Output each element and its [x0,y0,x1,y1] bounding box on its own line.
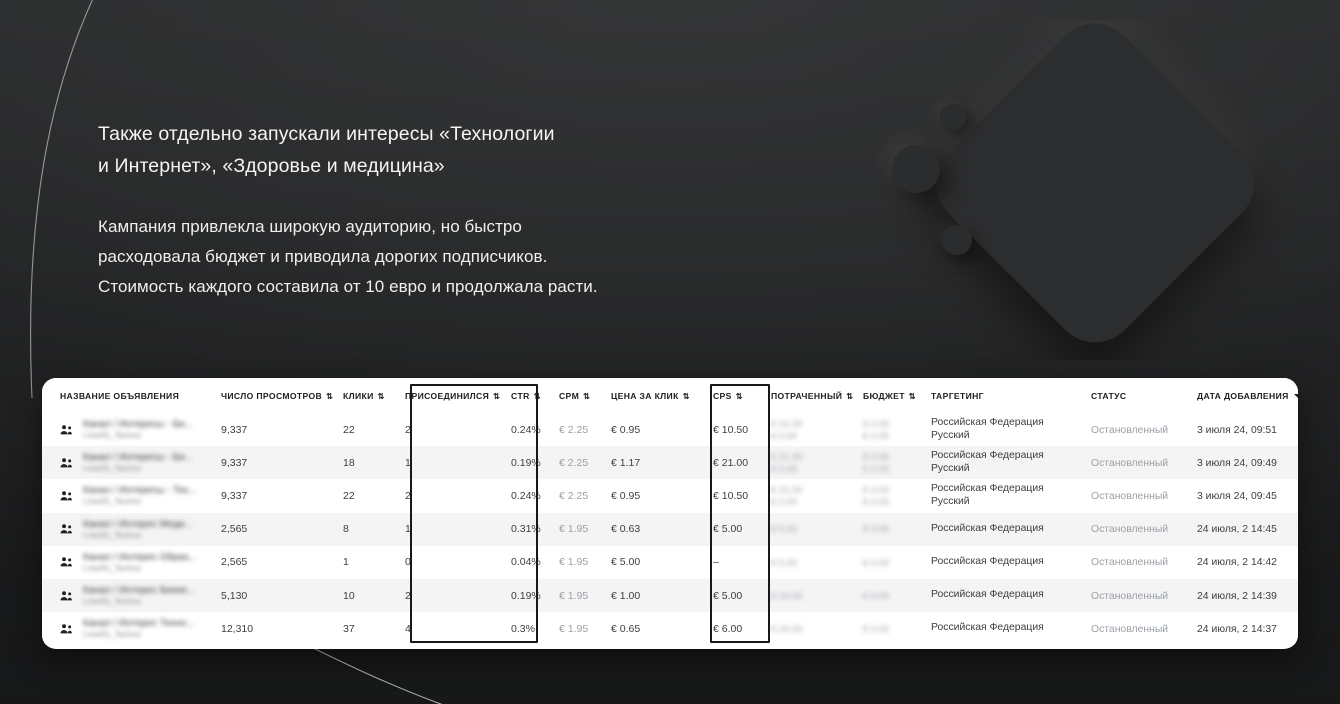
sort-toggle-icon[interactable]: ⇅ [583,393,590,401]
status-text: Остановленный [1091,425,1168,436]
status-badge: Остановленный [1082,513,1188,546]
cpm-value: € 2.25 [559,457,588,469]
cell-joined: 1 [392,446,502,479]
cell-cpc: € 1.17 [602,446,700,479]
budget-value: € 0.00 [863,623,922,635]
status-badge: Остановленный [1082,546,1188,579]
cell-joined: 2 [392,479,502,512]
column-header-budget-label: БЮДЖЕТ [863,391,905,401]
budget-value: € 0.00€ 0.00 [863,418,922,441]
cell-spent: € 21.00€ 0.00 [758,413,854,446]
cpc-value: € 5.00 [611,556,640,568]
views-value: 5,130 [221,590,247,602]
clicks-value: 22 [343,424,355,436]
sort-toggle-icon[interactable]: ⇅ [909,393,916,401]
joined-value: 0 [405,556,411,568]
cell-clicks: 37 [334,612,392,645]
cpc-value: € 1.00 [611,590,640,602]
joined-value: 2 [405,490,411,502]
date-added-value: 24 июля, 2 14:45 [1197,524,1277,535]
spent-value: € 5.00 [771,523,854,535]
cell-ad-name: Канал / Интерес Образ...t.me/IG_Techno [42,546,212,579]
targeting-value: Российская Федерация [931,556,1082,569]
column-header-clicks-label: КЛИКИ [343,391,374,401]
table-row[interactable]: Канал / Интересы - Тех...t.me/IG_Techno9… [42,479,1298,512]
column-header-ad-name-label: НАЗВАНИЕ ОБЪЯВЛЕНИЯ [60,391,179,401]
cell-clicks: 10 [334,579,392,612]
targeting-value: Российская ФедерацияРусский [931,417,1082,442]
column-header-ctr[interactable]: CTR⇅ [502,378,550,413]
cell-budget: € 0.00 [854,579,922,612]
slide-lead-paragraph: Также отдельно запускали интересы «Техно… [98,118,818,182]
cell-ad-name: Канал / Интерес Бизне...t.me/IG_Techno [42,579,212,612]
cell-targeting: Российская ФедерацияРусский [922,413,1082,446]
cell-cpm: € 1.95 [550,612,602,645]
column-header-status-label: СТАТУС [1091,391,1126,401]
cps-value: € 6.00 [713,623,742,635]
chevron-down-icon[interactable] [1294,394,1298,398]
ctr-value: 0.19% [511,457,541,469]
ad-channel-text: t.me/IG_Techno [83,630,194,639]
cell-ad-name: Канал / Интересы - Би...t.me/IG_Techno [42,446,212,479]
cpm-value: € 1.95 [559,556,588,568]
status-text: Остановленный [1091,591,1168,602]
column-header-budget[interactable]: БЮДЖЕТ⇅ [854,378,922,413]
cell-clicks: 22 [334,413,392,446]
column-header-cps-label: CPS [713,391,732,401]
sort-toggle-icon[interactable]: ⇅ [326,393,333,401]
ctr-value: 0.19% [511,590,541,602]
cell-cpc: € 1.00 [602,579,700,612]
cell-cpm: € 2.25 [550,479,602,512]
ads-table: НАЗВАНИЕ ОБЪЯВЛЕНИЯ ЧИСЛО ПРОСМОТРОВ⇅ КЛ… [42,378,1298,645]
joined-value: 1 [405,523,411,535]
lead-line-2: и Интернет», «Здоровье и медицина» [98,150,818,182]
cell-clicks: 1 [334,546,392,579]
cell-budget: € 0.00 [854,546,922,579]
cell-ctr: 0.31% [502,513,550,546]
spent-value: € 24.00 [771,623,854,635]
ad-name-text: Канал / Интерес Бизне... [83,585,195,596]
status-badge: Остановленный [1082,579,1188,612]
table-row[interactable]: Канал / Интересы - Би...t.me/IG_Techno9,… [42,413,1298,446]
column-header-ctr-label: CTR [511,391,530,401]
views-value: 2,565 [221,556,247,568]
table-row[interactable]: Канал / Интерес Техно...t.me/IG_Techno12… [42,612,1298,645]
status-text: Остановленный [1091,491,1168,502]
column-header-clicks[interactable]: КЛИКИ⇅ [334,378,392,413]
column-header-status[interactable]: СТАТУС [1082,378,1188,413]
status-badge: Остановленный [1082,612,1188,645]
column-header-joined-label: ПРИСОЕДИНИЛСЯ [405,391,489,401]
column-header-targeting[interactable]: ТАРГЕТИНГ [922,378,1082,413]
date-added-value: 3 июля 24, 09:49 [1197,458,1277,469]
status-text: Остановленный [1091,624,1168,635]
cell-ctr: 0.04% [502,546,550,579]
cell-cpc: € 0.65 [602,612,700,645]
ad-name-text: Канал / Интересы - Тех... [83,485,196,496]
cell-views: 9,337 [212,479,334,512]
people-icon [60,556,74,568]
joined-value: 2 [405,424,411,436]
status-badge: Остановленный [1082,413,1188,446]
body-line-3: Стоимость каждого составила от 10 евро и… [98,272,818,302]
cell-spent: € 5.00 [758,513,854,546]
status-badge: Остановленный [1082,446,1188,479]
sort-toggle-icon[interactable]: ⇅ [534,393,541,401]
cell-date-added: 3 июля 24, 09:51 [1188,413,1298,446]
cell-targeting: Российская ФедерацияРусский [922,446,1082,479]
ad-channel-text: t.me/IG_Techno [83,564,196,573]
cell-targeting: Российская Федерация [922,513,1082,546]
date-added-value: 24 июля, 2 14:37 [1197,624,1277,635]
cell-cps: € 5.00 [700,513,758,546]
ad-channel-text: t.me/IG_Techno [83,597,195,606]
cps-value: – [713,556,719,568]
joined-value: 2 [405,590,411,602]
cell-cps: € 6.00 [700,612,758,645]
cell-spent: € 10.00 [758,579,854,612]
cell-joined: 2 [392,579,502,612]
cpc-value: € 1.17 [611,457,640,469]
column-header-views-label: ЧИСЛО ПРОСМОТРОВ [221,391,322,401]
spent-value: € 21.00€ 0.00 [771,484,854,507]
cps-value: € 21.00 [713,457,748,469]
cell-joined: 1 [392,513,502,546]
cpm-value: € 1.95 [559,590,588,602]
status-text: Остановленный [1091,524,1168,535]
spent-value: € 5.00 [771,557,854,569]
views-value: 2,565 [221,523,247,535]
spent-value: € 21.00€ 0.00 [771,418,854,441]
cell-cps: € 10.50 [700,413,758,446]
sort-toggle-icon[interactable]: ⇅ [378,393,385,401]
table-row[interactable]: Канал / Интерес Образ...t.me/IG_Techno2,… [42,546,1298,579]
column-header-spent-label: ПОТРАЧЕННЫЙ [771,391,842,401]
cell-cpc: € 5.00 [602,546,700,579]
cell-views: 2,565 [212,513,334,546]
ad-name-text: Канал / Интерес Меди... [83,519,193,530]
cell-cpc: € 0.95 [602,479,700,512]
targeting-value: Российская Федерация [931,523,1082,536]
column-header-cpc[interactable]: ЦЕНА ЗА КЛИК⇅ [602,378,700,413]
targeting-value: Российская Федерация [931,622,1082,635]
cell-spent: € 5.00 [758,546,854,579]
sort-toggle-icon[interactable]: ⇅ [493,393,500,401]
cell-joined: 4 [392,612,502,645]
cell-clicks: 18 [334,446,392,479]
cell-views: 12,310 [212,612,334,645]
cell-views: 9,337 [212,446,334,479]
cell-date-added: 3 июля 24, 09:45 [1188,479,1298,512]
column-header-cps[interactable]: CPS⇅ [700,378,758,413]
cell-budget: € 0.00€ 0.00 [854,413,922,446]
cell-cpm: € 1.95 [550,579,602,612]
views-value: 9,337 [221,490,247,502]
ad-name-text: Канал / Интересы - Би... [83,419,193,430]
cell-cpc: € 0.63 [602,513,700,546]
sort-toggle-icon[interactable]: ⇅ [683,393,690,401]
budget-value: € 0.00€ 0.00 [863,484,922,507]
cell-ad-name: Канал / Интересы - Би...t.me/IG_Techno [42,413,212,446]
targeting-value: Российская Федерация [931,589,1082,602]
column-header-spent[interactable]: ПОТРАЧЕННЫЙ⇅ [758,378,854,413]
status-text: Остановленный [1091,458,1168,469]
clicks-value: 22 [343,490,355,502]
cps-value: € 5.00 [713,590,742,602]
cps-value: € 10.50 [713,490,748,502]
sort-toggle-icon[interactable]: ⇅ [846,393,853,401]
cpc-value: € 0.65 [611,623,640,635]
ads-table-header: НАЗВАНИЕ ОБЪЯВЛЕНИЯ ЧИСЛО ПРОСМОТРОВ⇅ КЛ… [42,378,1298,413]
cell-spent: € 21.00€ 0.00 [758,446,854,479]
lead-line-1: Также отдельно запускали интересы «Техно… [98,118,818,150]
joined-value: 4 [405,623,411,635]
sort-toggle-icon[interactable]: ⇅ [736,393,743,401]
slide-body-paragraph: Кампания привлекла широкую аудиторию, но… [98,212,818,302]
cell-targeting: Российская Федерация [922,612,1082,645]
cell-budget: € 0.00€ 0.00 [854,479,922,512]
table-row[interactable]: Канал / Интерес Меди...t.me/IG_Techno2,5… [42,513,1298,546]
header-row: НАЗВАНИЕ ОБЪЯВЛЕНИЯ ЧИСЛО ПРОСМОТРОВ⇅ КЛ… [42,378,1298,413]
ad-name-text: Канал / Интерес Образ... [83,552,196,563]
ctr-value: 0.31% [511,523,541,535]
cell-ctr: 0.24% [502,479,550,512]
cell-cpm: € 2.25 [550,413,602,446]
cell-cps: € 5.00 [700,579,758,612]
column-header-cpc-label: ЦЕНА ЗА КЛИК [611,391,679,401]
cpm-value: € 2.25 [559,424,588,436]
budget-value: € 0.00 [863,590,922,602]
ctr-value: 0.04% [511,556,541,568]
cell-targeting: Российская Федерация [922,579,1082,612]
budget-value: € 0.00€ 0.00 [863,451,922,474]
views-value: 12,310 [221,623,253,635]
cpm-value: € 2.25 [559,490,588,502]
column-header-date-added-label: ДАТА ДОБАВЛЕНИЯ [1197,391,1289,401]
spent-value: € 10.00 [771,590,854,602]
ctr-value: 0.3% [511,623,535,635]
people-icon [60,623,74,635]
ctr-value: 0.24% [511,424,541,436]
column-header-date-added[interactable]: ДАТА ДОБАВЛЕНИЯ [1188,378,1298,413]
clicks-value: 10 [343,590,355,602]
cell-views: 5,130 [212,579,334,612]
views-value: 9,337 [221,457,247,469]
ad-name-text: Канал / Интерес Техно... [83,618,194,629]
cell-ad-name: Канал / Интересы - Тех...t.me/IG_Techno [42,479,212,512]
cell-cps: – [700,546,758,579]
people-icon [60,457,74,469]
cell-ctr: 0.3% [502,612,550,645]
column-header-cpm[interactable]: CPM⇅ [550,378,602,413]
cps-value: € 5.00 [713,523,742,535]
cpm-value: € 1.95 [559,623,588,635]
cell-ctr: 0.19% [502,579,550,612]
cell-budget: € 0.00 [854,513,922,546]
cell-ctr: 0.24% [502,413,550,446]
targeting-value: Российская ФедерацияРусский [931,483,1082,508]
status-badge: Остановленный [1082,479,1188,512]
date-added-value: 3 июля 24, 09:45 [1197,491,1277,502]
cell-spent: € 24.00 [758,612,854,645]
column-header-ad-name[interactable]: НАЗВАНИЕ ОБЪЯВЛЕНИЯ [42,378,212,413]
cps-value: € 10.50 [713,424,748,436]
cell-clicks: 22 [334,479,392,512]
date-added-value: 3 июля 24, 09:51 [1197,425,1277,436]
ad-channel-text: t.me/IG_Techno [83,464,193,473]
ctr-value: 0.24% [511,490,541,502]
column-header-joined[interactable]: ПРИСОЕДИНИЛСЯ⇅ [392,378,502,413]
cell-date-added: 24 июля, 2 14:39 [1188,579,1298,612]
clicks-value: 37 [343,623,355,635]
cell-targeting: Российская Федерация [922,546,1082,579]
cpm-value: € 1.95 [559,523,588,535]
cell-cps: € 21.00 [700,446,758,479]
cell-views: 9,337 [212,413,334,446]
body-line-2: расходовала бюджет и приводила дорогих п… [98,242,818,272]
date-added-value: 24 июля, 2 14:42 [1197,557,1277,568]
spent-value: € 21.00€ 0.00 [771,451,854,474]
cell-clicks: 8 [334,513,392,546]
cell-date-added: 24 июля, 2 14:45 [1188,513,1298,546]
cell-budget: € 0.00 [854,612,922,645]
table-row[interactable]: Канал / Интересы - Би...t.me/IG_Techno9,… [42,446,1298,479]
budget-value: € 0.00 [863,523,922,535]
ads-table-body: Канал / Интересы - Би...t.me/IG_Techno9,… [42,413,1298,645]
people-icon [60,490,74,502]
people-icon [60,590,74,602]
joined-value: 1 [405,457,411,469]
cell-date-added: 24 июля, 2 14:37 [1188,612,1298,645]
table-row[interactable]: Канал / Интерес Бизне...t.me/IG_Techno5,… [42,579,1298,612]
budget-value: € 0.00 [863,557,922,569]
ad-channel-text: t.me/IG_Techno [83,431,193,440]
body-line-1: Кампания привлекла широкую аудиторию, но… [98,212,818,242]
clicks-value: 18 [343,457,355,469]
cell-ad-name: Канал / Интерес Техно...t.me/IG_Techno [42,612,212,645]
cell-cpm: € 2.25 [550,446,602,479]
status-text: Остановленный [1091,557,1168,568]
cpc-value: € 0.95 [611,424,640,436]
cpc-value: € 0.63 [611,523,640,535]
people-icon [60,523,74,535]
cell-date-added: 3 июля 24, 09:49 [1188,446,1298,479]
ad-name-text: Канал / Интересы - Би... [83,452,193,463]
cell-cpm: € 1.95 [550,546,602,579]
column-header-targeting-label: ТАРГЕТИНГ [931,391,984,401]
ad-channel-text: t.me/IG_Techno [83,497,196,506]
cell-cpc: € 0.95 [602,413,700,446]
slide-copy: Также отдельно запускали интересы «Техно… [98,118,818,302]
ads-table-card: НАЗВАНИЕ ОБЪЯВЛЕНИЯ ЧИСЛО ПРОСМОТРОВ⇅ КЛ… [42,378,1298,649]
column-header-views[interactable]: ЧИСЛО ПРОСМОТРОВ⇅ [212,378,334,413]
column-header-cpm-label: CPM [559,391,579,401]
people-icon [60,424,74,436]
cell-joined: 2 [392,413,502,446]
cell-budget: € 0.00€ 0.00 [854,446,922,479]
cell-date-added: 24 июля, 2 14:42 [1188,546,1298,579]
cell-ad-name: Канал / Интерес Меди...t.me/IG_Techno [42,513,212,546]
clicks-value: 1 [343,556,349,568]
ad-channel-text: t.me/IG_Techno [83,531,193,540]
cell-targeting: Российская ФедерацияРусский [922,479,1082,512]
cell-cpm: € 1.95 [550,513,602,546]
clicks-value: 8 [343,523,349,535]
cell-ctr: 0.19% [502,446,550,479]
views-value: 9,337 [221,424,247,436]
cpc-value: € 0.95 [611,490,640,502]
cell-views: 2,565 [212,546,334,579]
date-added-value: 24 июля, 2 14:39 [1197,591,1277,602]
cell-spent: € 21.00€ 0.00 [758,479,854,512]
cell-cps: € 10.50 [700,479,758,512]
targeting-value: Российская ФедерацияРусский [931,450,1082,475]
cell-joined: 0 [392,546,502,579]
